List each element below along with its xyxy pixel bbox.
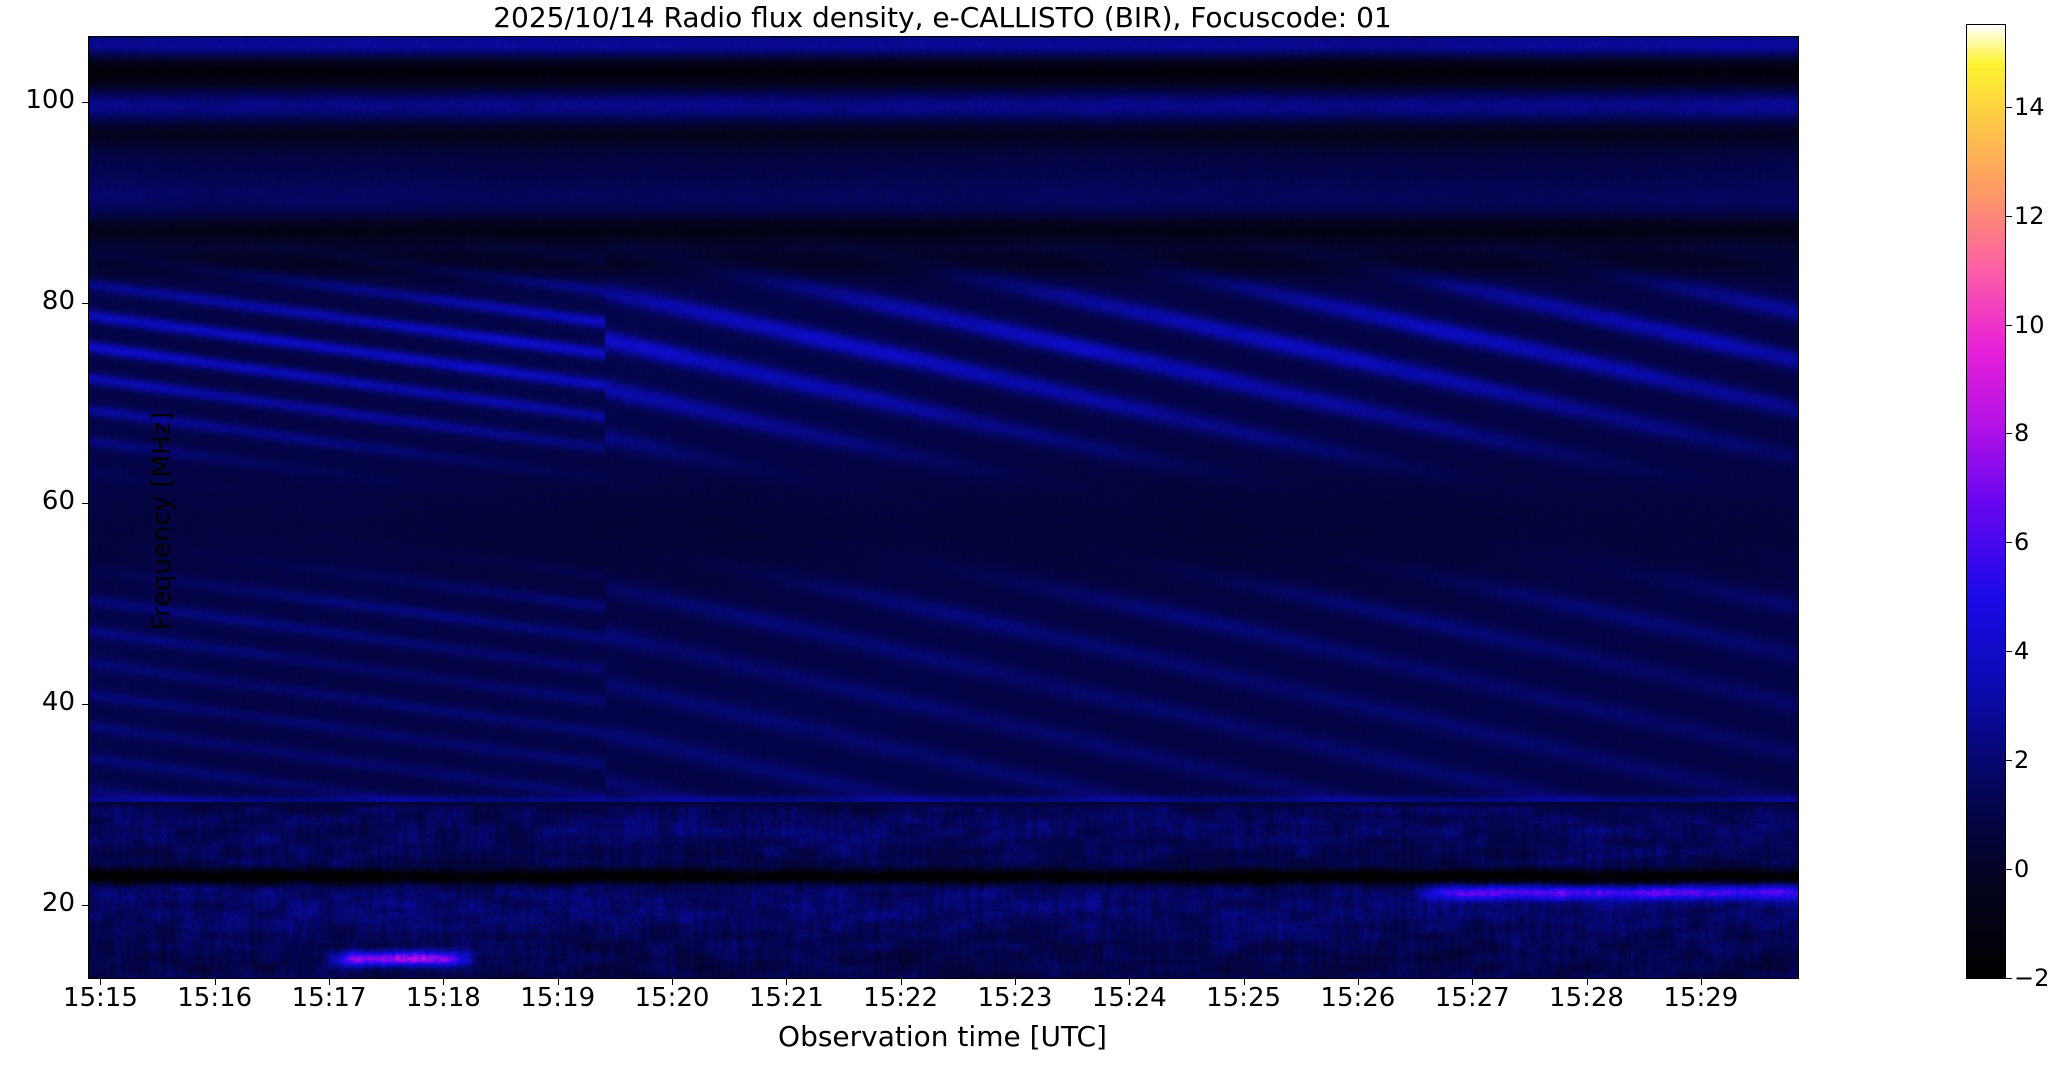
- y-axis-label: Frequency [MHz]: [147, 351, 177, 691]
- x-tick-label: 15:23: [977, 983, 1052, 1013]
- colorbar-tick-mark: [2006, 542, 2012, 543]
- colorbar-tick-mark: [2006, 869, 2012, 870]
- x-tick-label: 15:22: [863, 983, 938, 1013]
- colorbar-tick-label: 8: [2014, 419, 2029, 447]
- x-tick-label: 15:29: [1663, 983, 1738, 1013]
- colorbar-tick-label: 2: [2014, 746, 2029, 774]
- y-tick-mark: [82, 503, 89, 504]
- x-tick-label: 15:27: [1435, 983, 1510, 1013]
- colorbar-tick-label: 4: [2014, 637, 2029, 665]
- page-title: 2025/10/14 Radio flux density, e-CALLIST…: [88, 2, 1797, 34]
- x-tick-label: 15:15: [63, 983, 138, 1013]
- y-tick-mark: [82, 704, 89, 705]
- x-tick-label: 15:19: [520, 983, 595, 1013]
- x-axis-label: Observation time [UTC]: [88, 1020, 1797, 1053]
- colorbar-gradient: [1967, 25, 2005, 978]
- x-tick-label: 15:28: [1549, 983, 1624, 1013]
- y-tick-mark: [82, 905, 89, 906]
- x-tick-label: 15:24: [1092, 983, 1167, 1013]
- colorbar-tick-mark: [2006, 433, 2012, 434]
- x-tick-label: 15:25: [1206, 983, 1281, 1013]
- spectrogram-image: [89, 37, 1798, 978]
- colorbar-tick-label: 12: [2014, 202, 2045, 230]
- colorbar-tick-label: −2: [2014, 964, 2049, 992]
- colorbar-tick-mark: [2006, 325, 2012, 326]
- x-tick-label: 15:21: [749, 983, 824, 1013]
- colorbar-tick-mark: [2006, 651, 2012, 652]
- spectrogram-figure: 2025/10/14 Radio flux density, e-CALLIST…: [0, 0, 2066, 1067]
- y-tick-mark: [82, 303, 89, 304]
- y-tick-mark: [82, 102, 89, 103]
- x-tick-label: 15:20: [635, 983, 710, 1013]
- colorbar-tick-mark: [2006, 760, 2012, 761]
- colorbar-tick-mark: [2006, 216, 2012, 217]
- spectrogram-axes: [88, 36, 1799, 979]
- y-tick-label: 20: [0, 888, 75, 918]
- y-tick-label: 100: [0, 85, 75, 115]
- colorbar: [1966, 24, 2006, 979]
- colorbar-tick-label: 0: [2014, 855, 2029, 883]
- colorbar-tick-label: 6: [2014, 528, 2029, 556]
- x-tick-label: 15:26: [1320, 983, 1395, 1013]
- colorbar-tick-mark: [2006, 107, 2012, 108]
- x-tick-label: 15:18: [406, 983, 481, 1013]
- colorbar-tick-mark: [2006, 978, 2012, 979]
- colorbar-tick-label: 10: [2014, 311, 2045, 339]
- y-tick-label: 40: [0, 687, 75, 717]
- colorbar-tick-label: 14: [2014, 93, 2045, 121]
- x-tick-label: 15:16: [177, 983, 252, 1013]
- x-tick-label: 15:17: [292, 983, 367, 1013]
- y-tick-label: 80: [0, 286, 75, 316]
- y-tick-label: 60: [0, 486, 75, 516]
